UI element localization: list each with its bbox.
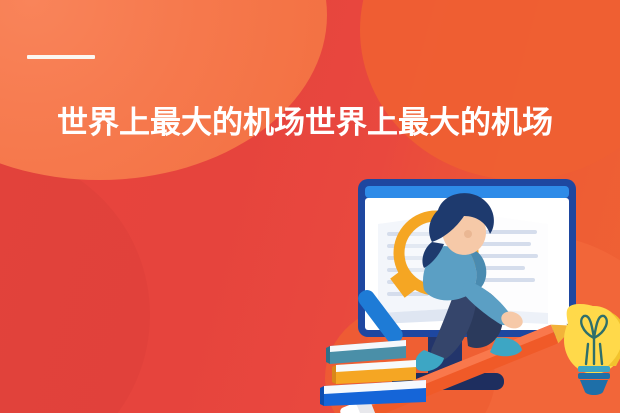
- book-yellow: [332, 360, 416, 384]
- poster-canvas: 世界上最大的机场世界上最大的机场: [0, 0, 620, 413]
- research-learning-illustration: [320, 168, 620, 413]
- accent-underline-rule: [27, 55, 95, 59]
- page-title: 世界上最大的机场世界上最大的机场: [57, 106, 587, 140]
- stacked-books: [320, 340, 426, 406]
- lightbulb-icon: [564, 304, 620, 395]
- book-teal: [326, 340, 406, 364]
